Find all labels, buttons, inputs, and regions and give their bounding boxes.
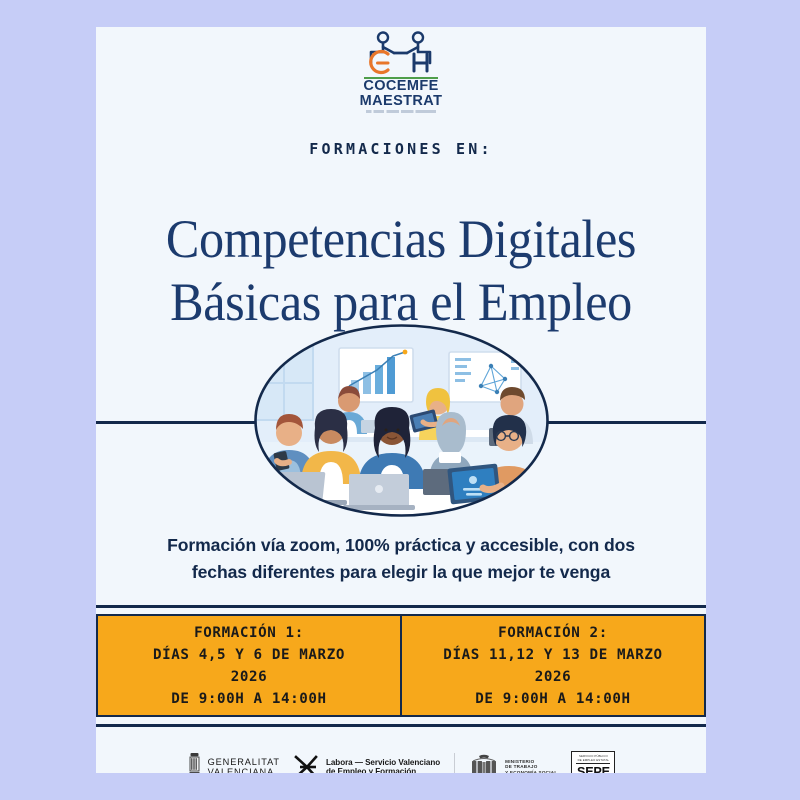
session-box-1[interactable]: FORMACIÓN 1: DÍAS 4,5 Y 6 DE MARZO 2026 …: [98, 616, 400, 715]
generalitat-label: GENERALITAT VALENCIANA: [208, 757, 280, 773]
sepe-small-line-2: DE EMPLEO ESTATAL: [572, 759, 614, 763]
session-boxes: FORMACIÓN 1: DÍAS 4,5 Y 6 DE MARZO 2026 …: [96, 614, 706, 717]
sepe-divider: [576, 763, 610, 764]
eyebrow-label: FORMACIONES EN:: [96, 140, 706, 158]
labora-logo: Labora — Servicio Valenciano de Empleo y…: [294, 753, 440, 773]
subtitle-line-1: Formación vía zoom, 100% práctica y acce…: [124, 532, 678, 559]
footer-logo-row: GENERALITAT VALENCIANA Labora — Servicio…: [96, 739, 706, 773]
ministerio-line-3: Y ECONOMÍA SOCIAL: [505, 770, 557, 773]
subtitle-line-2: fechas diferentes para elegir la que mej…: [124, 559, 678, 586]
divider-rule-above-sessions: [96, 605, 706, 608]
logo-word-maestrat: MAESTRAT: [360, 94, 443, 109]
labora-line-1: Labora — Servicio Valenciano: [326, 758, 440, 767]
session-2-schedule: DE 9:00H A 14:00H: [475, 688, 630, 710]
session-1-year: 2026: [231, 666, 268, 688]
generalitat-line-2: VALENCIANA: [208, 767, 280, 773]
cocemfe-maestrat-logo: COCEMFE MAESTRAT: [96, 30, 706, 113]
cocemfe-handshake-wheelchair-icon: [358, 30, 444, 76]
ministerio-label: MINISTERIO DE TRABAJO Y ECONOMÍA SOCIAL: [505, 759, 557, 773]
gobierno-de-espana-coat-of-arms-icon: [469, 753, 499, 773]
logo-tagline-strip: [366, 110, 436, 113]
labora-arrow-icon: [294, 753, 320, 773]
labora-label: Labora — Servicio Valenciano de Empleo y…: [326, 758, 440, 773]
poster-frame: COCEMFE MAESTRAT FORMACIONES EN: Compete…: [0, 0, 800, 800]
generalitat-valenciana-coat-of-arms-icon: [187, 752, 202, 773]
ministerio-trabajo-logo: MINISTERIO DE TRABAJO Y ECONOMÍA SOCIAL: [469, 753, 557, 773]
footer-divider: [454, 753, 455, 773]
divider-rule-below-sessions: [96, 724, 706, 727]
session-1-schedule: DE 9:00H A 14:00H: [171, 688, 326, 710]
title-line-1: Competencias Digitales: [117, 208, 684, 271]
session-box-2[interactable]: FORMACIÓN 2: DÍAS 11,12 Y 13 DE MARZO 20…: [400, 616, 704, 715]
session-1-heading: FORMACIÓN 1:: [194, 622, 304, 644]
session-2-heading: FORMACIÓN 2:: [498, 622, 608, 644]
session-2-year: 2026: [535, 666, 572, 688]
generalitat-line-1: GENERALITAT: [208, 757, 280, 767]
generalitat-valenciana-logo: GENERALITAT VALENCIANA: [187, 752, 280, 773]
poster-card: COCEMFE MAESTRAT FORMACIONES EN: Compete…: [96, 27, 706, 773]
session-2-dates: DÍAS 11,12 Y 13 DE MARZO: [443, 644, 662, 666]
poster-subtitle: Formación vía zoom, 100% práctica y acce…: [124, 532, 678, 585]
labora-line-2: de Empleo y Formación: [326, 767, 440, 773]
page-title: Competencias Digitales Básicas para el E…: [117, 208, 684, 333]
logo-word-cocemfe: COCEMFE: [363, 79, 438, 94]
sepe-wordmark: SEPE: [577, 765, 610, 773]
digital-skills-classroom-illustration: [253, 324, 550, 517]
sepe-logo: SERVICIO PÚBLICO DE EMPLEO ESTATAL SEPE: [571, 751, 615, 773]
session-1-dates: DÍAS 4,5 Y 6 DE MARZO: [153, 644, 345, 666]
